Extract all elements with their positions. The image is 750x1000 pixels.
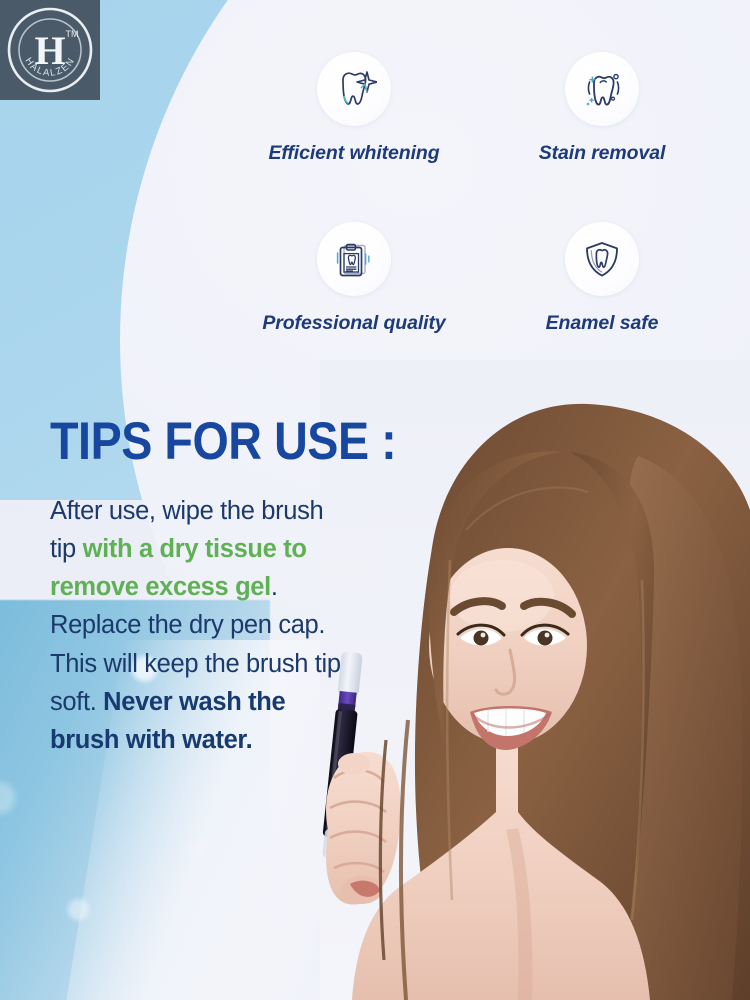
tips-green-highlight: with a dry tissue to remove excess gel — [50, 535, 307, 601]
clipboard-tooth-icon — [317, 222, 391, 296]
feature-label: Enamel safe — [492, 312, 712, 335]
page-title: TIPS FOR USE : — [50, 415, 314, 470]
product-infographic: H TM HALALZEN — [0, 0, 750, 1000]
feature-label: Stain removal — [492, 142, 712, 165]
shield-tooth-icon — [565, 222, 639, 296]
feature-label: Professional quality — [237, 312, 471, 335]
tooth-sparkle-icon — [317, 52, 391, 126]
feature-stain-removal[interactable]: Stain removal — [492, 52, 712, 165]
tips-section: TIPS FOR USE : After use, wipe the brush… — [50, 415, 350, 759]
feature-list: Efficient whitening Stain removal — [0, 0, 750, 380]
svg-text:TM: TM — [66, 29, 79, 39]
feature-label: Efficient whitening — [237, 142, 471, 165]
halalzen-logo-mark: H TM HALALZEN — [4, 4, 96, 96]
feature-enamel-safe[interactable]: Enamel safe — [492, 222, 712, 335]
feature-professional-quality[interactable]: Professional quality — [237, 222, 471, 335]
tips-body: After use, wipe the brush tip with a dry… — [50, 492, 350, 760]
brand-logo: H TM HALALZEN — [0, 0, 100, 100]
feature-efficient-whitening[interactable]: Efficient whitening — [237, 52, 471, 165]
shining-tooth-icon — [565, 52, 639, 126]
